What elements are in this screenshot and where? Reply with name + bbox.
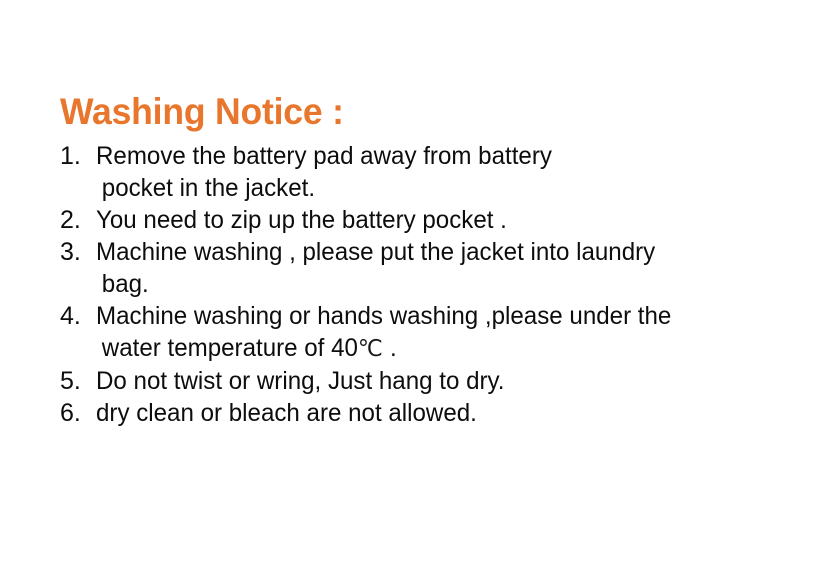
page-title: Washing Notice : [60,90,344,134]
washing-instruction-list: 1. Remove the battery pad away from batt… [60,140,760,429]
list-item-text: You need to zip up the battery pocket . [96,204,737,236]
list-item-text: Machine washing or hands washing ,please… [96,300,737,365]
list-item-number: 6. [60,397,94,429]
list-item: 5. Do not twist or wring, Just hang to d… [60,365,760,397]
list-item-line: Machine washing , please put the jacket … [96,238,655,266]
degree-celsius-icon: ℃ [358,336,383,362]
washing-notice-slide: Washing Notice : 1. Remove the battery p… [0,0,834,580]
list-item-continuation-line: bag. [96,268,737,300]
list-item: 4. Machine washing or hands washing ,ple… [60,300,760,365]
line-trailing-punctuation: . [383,334,396,362]
water-temperature-label: water temperature of 40 [102,334,358,362]
list-item-text: Remove the battery pad away from battery… [96,140,737,204]
list-item: 3. Machine washing , please put the jack… [60,236,760,300]
list-item-line: Machine washing or hands washing ,please… [96,302,671,330]
list-item-text: dry clean or bleach are not allowed. [96,397,737,429]
list-item-continuation-line: pocket in the jacket. [96,172,737,204]
list-item: 2. You need to zip up the battery pocket… [60,204,760,236]
list-item-number: 1. [60,140,94,172]
list-item-number: 2. [60,204,94,236]
list-item-line: Do not twist or wring, Just hang to dry. [96,367,505,395]
list-item-number: 5. [60,365,94,397]
list-item-line: dry clean or bleach are not allowed. [96,399,477,427]
list-item: 1. Remove the battery pad away from batt… [60,140,760,204]
list-item-text: Machine washing , please put the jacket … [96,236,737,300]
list-item-line: Remove the battery pad away from battery [96,142,552,170]
list-item: 6. dry clean or bleach are not allowed. [60,397,760,429]
list-item-text: Do not twist or wring, Just hang to dry. [96,365,737,397]
list-item-continuation-line: water temperature of 40℃ . [96,332,737,365]
list-item-number: 4. [60,300,94,332]
list-item-line: You need to zip up the battery pocket . [96,206,507,234]
list-item-number: 3. [60,236,94,268]
